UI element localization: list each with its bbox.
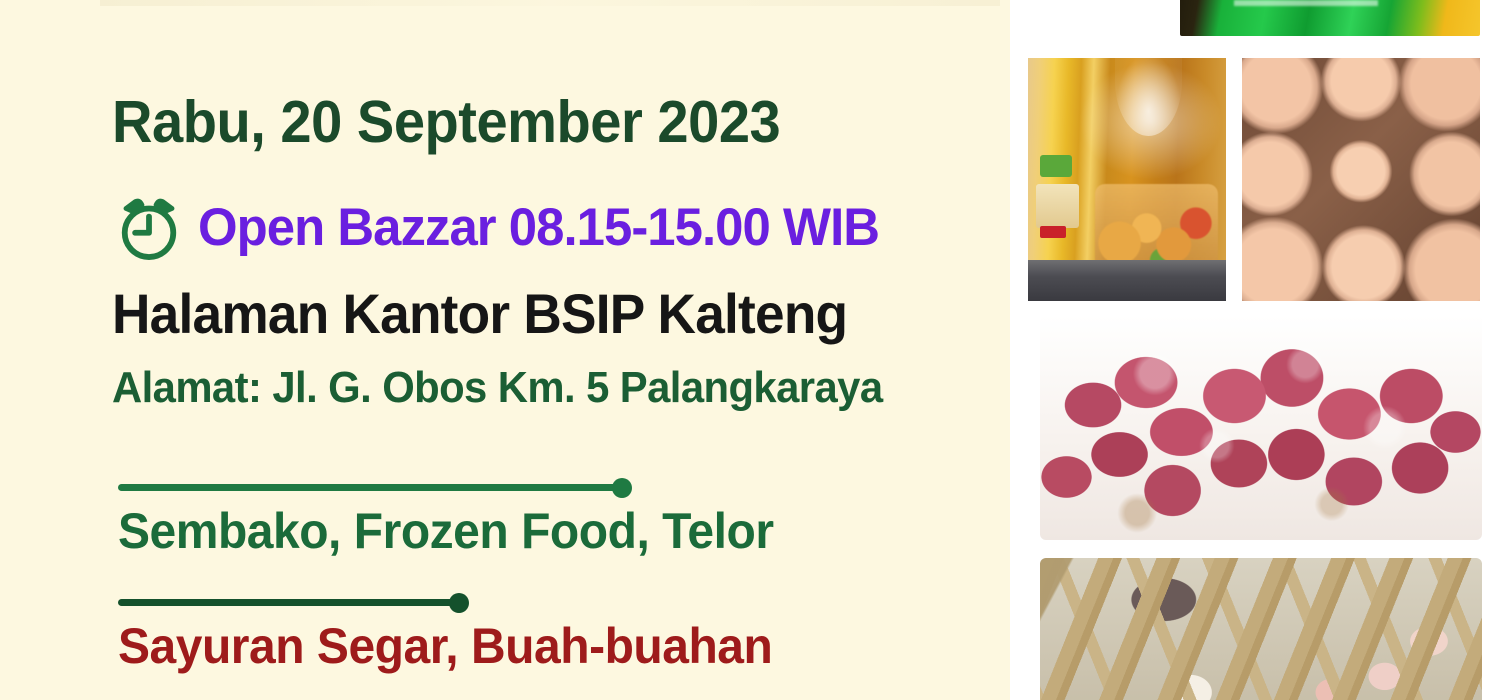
oil-pour-highlight bbox=[1115, 58, 1182, 136]
packaged-goods-image bbox=[1180, 0, 1480, 36]
rule-dot-icon bbox=[612, 478, 632, 498]
eggs-image bbox=[1242, 58, 1480, 301]
cooking-oil-image bbox=[1028, 58, 1226, 301]
shallots-photo bbox=[1040, 315, 1482, 540]
event-address: Alamat: Jl. G. Obos Km. 5 Palangkaraya bbox=[112, 366, 883, 410]
photo-collage-panel bbox=[1010, 0, 1500, 700]
eggs-photo bbox=[1242, 58, 1480, 301]
category-rule-1 bbox=[118, 484, 623, 491]
category-label-1: Sembako, Frozen Food, Telor bbox=[118, 506, 774, 556]
oil-label-green-seal bbox=[1040, 155, 1072, 177]
category-label-2: Sayuran Segar, Buah-buahan bbox=[118, 621, 772, 671]
poster-text-column: Rabu, 20 September 2023 Open Bazzar 08.1… bbox=[0, 0, 1010, 700]
event-venue: Halaman Kantor BSIP Kalteng bbox=[112, 286, 847, 342]
event-date: Rabu, 20 September 2023 bbox=[112, 93, 780, 152]
alarm-clock-icon bbox=[112, 190, 186, 264]
packaged-goods-photo bbox=[1180, 0, 1480, 36]
oil-bottle-label bbox=[1036, 184, 1080, 228]
category-rule-2 bbox=[118, 599, 460, 606]
shallots-image bbox=[1040, 315, 1482, 540]
cooking-oil-photo bbox=[1028, 58, 1226, 301]
shelf-edge bbox=[1028, 260, 1226, 301]
event-time-row: Open Bazzar 08.15-15.00 WIB bbox=[112, 190, 907, 264]
peanuts-photo bbox=[1040, 558, 1482, 700]
poster-canvas: Rabu, 20 September 2023 Open Bazzar 08.1… bbox=[0, 0, 1500, 700]
event-time-text: Open Bazzar 08.15-15.00 WIB bbox=[198, 201, 879, 254]
peanuts-image bbox=[1040, 558, 1482, 700]
rule-dot-icon bbox=[449, 593, 469, 613]
